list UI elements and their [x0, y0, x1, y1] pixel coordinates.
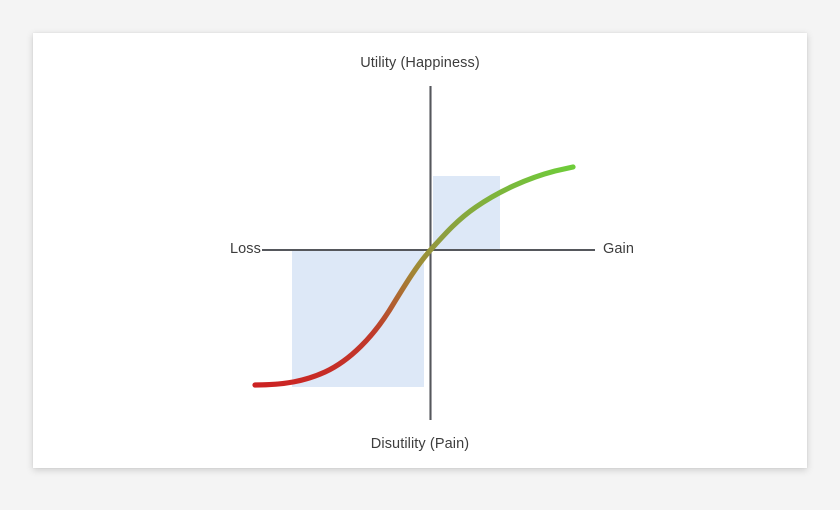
chart-plot-area: Utility (Happiness) Disutility (Pain) Lo…	[33, 33, 807, 468]
chart-card: Utility (Happiness) Disutility (Pain) Lo…	[33, 33, 807, 468]
axis-label-loss: Loss	[211, 241, 261, 257]
loss-reference-region	[292, 250, 424, 387]
axis-label-disutility: Disutility (Pain)	[33, 436, 807, 452]
value-function-chart	[33, 33, 807, 468]
axis-label-utility: Utility (Happiness)	[33, 55, 807, 71]
page-root: Utility (Happiness) Disutility (Pain) Lo…	[0, 0, 840, 510]
axis-label-gain: Gain	[603, 241, 663, 257]
